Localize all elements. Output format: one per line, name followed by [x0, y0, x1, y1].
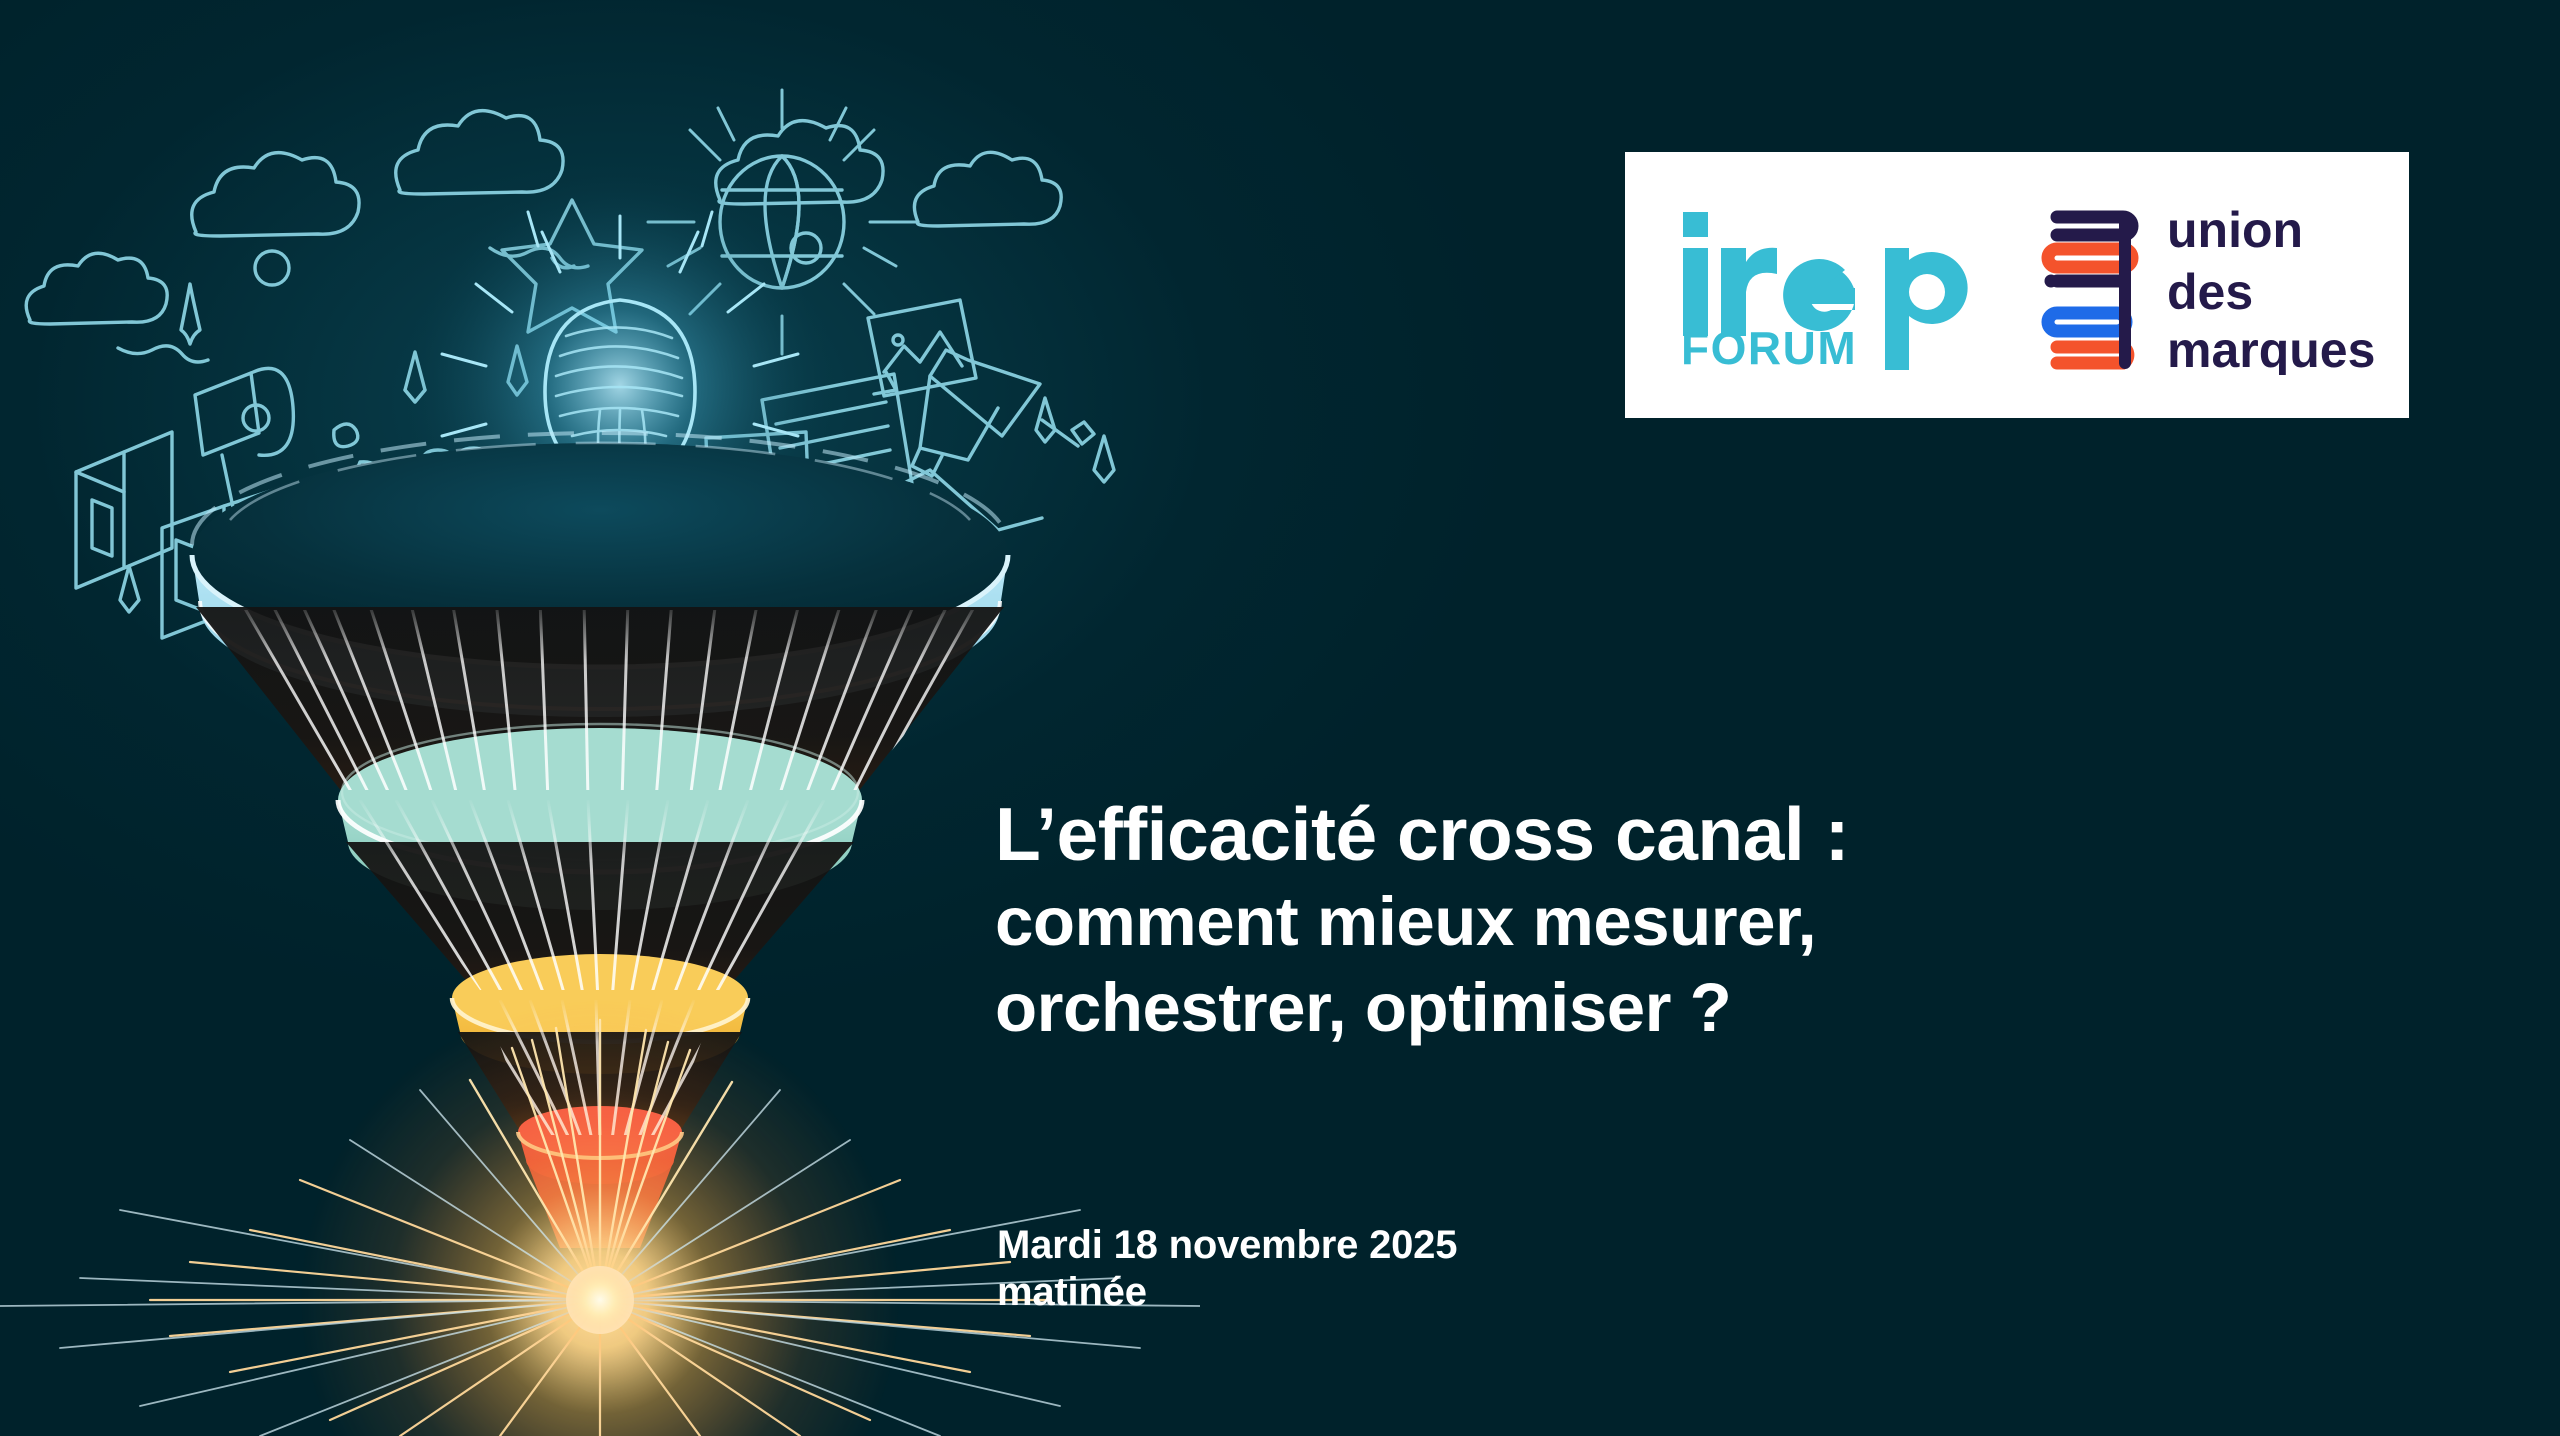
headline-line-1: L’efficacité cross canal :	[995, 790, 2475, 879]
cloud-icon	[26, 253, 208, 362]
megaphone-icon	[912, 350, 1094, 476]
headline-line-3: orchestrer, optimiser ?	[995, 965, 2475, 1051]
sparkle-icon	[1036, 398, 1055, 442]
cloud-icon	[914, 152, 1061, 226]
udm-line-2: des	[2167, 264, 2253, 320]
event-date: Mardi 18 novembre 2025	[997, 1222, 1457, 1269]
udm-line-3: marques	[2167, 322, 2375, 375]
irep-forum-subtitle: FORUM	[1681, 322, 1857, 370]
book-icon	[76, 432, 172, 588]
cloud-icon	[192, 153, 359, 285]
sparkle-icon	[181, 284, 200, 344]
sparkle-icon	[1094, 436, 1114, 482]
irep-forum-logo: FORUM	[1677, 200, 1977, 370]
udm-line-1: union	[2167, 202, 2303, 258]
headline-line-2: comment mieux mesurer,	[995, 879, 2475, 965]
starburst-graphic	[0, 1000, 1200, 1436]
event-time-of-day: matinée	[997, 1269, 1457, 1316]
udm-mark	[2045, 217, 2133, 363]
funnel-illustration	[0, 0, 1200, 1436]
event-date-block: Mardi 18 novembre 2025 matinée	[997, 1222, 1457, 1316]
leaf-icon	[334, 424, 358, 447]
slide-canvas: FORUM union des ma	[0, 0, 2560, 1436]
sparkle-icon	[120, 566, 139, 612]
union-des-marques-logo: union des marques	[2039, 195, 2419, 375]
headline-block: L’efficacité cross canal : comment mieux…	[995, 790, 2475, 1051]
photo-frame-icon	[868, 300, 976, 396]
partner-logos-card: FORUM union des ma	[1625, 152, 2409, 418]
